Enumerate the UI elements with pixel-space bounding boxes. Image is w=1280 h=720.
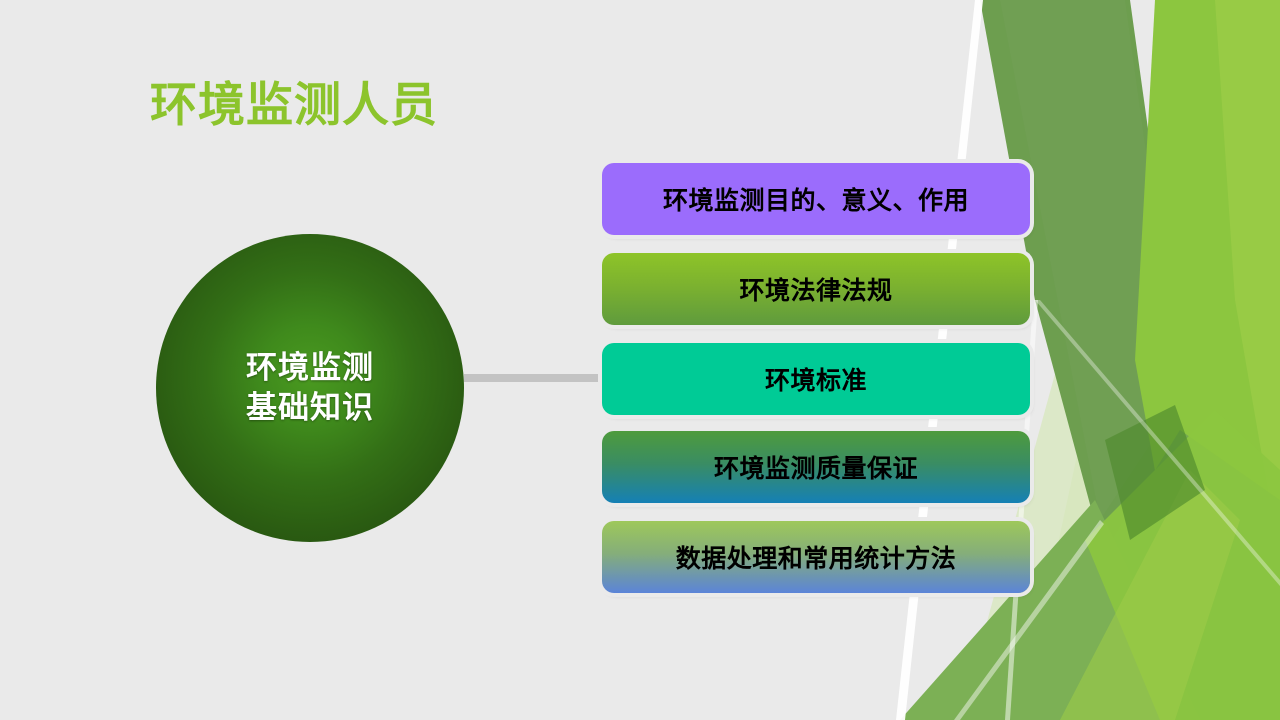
decor-bottom-green-3: [1085, 410, 1280, 720]
topic-box-data-processing[interactable]: 数据处理和常用统计方法: [602, 521, 1030, 593]
hub-circle[interactable]: 环境监测 基础知识: [156, 234, 464, 542]
topic-box-label: 环境法律法规: [739, 271, 892, 307]
decor-deep-green-accent: [1105, 405, 1205, 540]
decor-lime-column: [1135, 0, 1280, 720]
decor-lime-column-2: [1215, 0, 1280, 560]
topic-box-standards[interactable]: 环境标准: [602, 343, 1030, 415]
topic-box-label: 数据处理和常用统计方法: [676, 539, 957, 575]
hub-circle-label: 环境监测 基础知识: [246, 348, 374, 427]
topic-box-quality-assurance[interactable]: 环境监测质量保证: [602, 431, 1030, 503]
decor-bottom-green-4: [1060, 470, 1240, 720]
slide-canvas: 环境监测人员 环境监测 基础知识 环境监测目的、意义、作用 环境法律法规 环境标…: [0, 0, 1280, 720]
decor-pale-wedge-1: [1020, 0, 1280, 720]
topic-box-label: 环境标准: [765, 361, 867, 397]
topic-box-purpose[interactable]: 环境监测目的、意义、作用: [602, 163, 1030, 235]
decor-white-line-4: [1035, 300, 1280, 586]
topic-box-label: 环境监测质量保证: [714, 449, 918, 485]
decor-bottom-green-1: [1000, 430, 1280, 720]
connector-line: [464, 374, 604, 382]
topic-box-label: 环境监测目的、意义、作用: [663, 181, 969, 217]
topic-box-laws[interactable]: 环境法律法规: [602, 253, 1030, 325]
page-title: 环境监测人员: [150, 78, 438, 132]
